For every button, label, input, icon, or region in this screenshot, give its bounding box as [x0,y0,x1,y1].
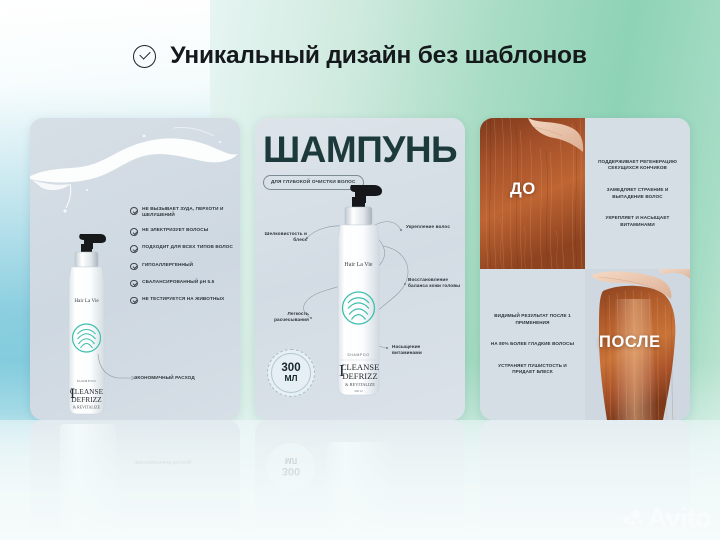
after-photo-cell: ПОСЛЕ [585,269,690,420]
badge-ring [271,353,311,393]
volume-badge: 300 МЛ [267,349,315,397]
svg-text:I: I [339,361,345,380]
feature-label-right-1: Укрепление волос [406,224,460,230]
check-icon [130,228,138,236]
benefit-text: УКРЕПЛЯЕТ И НАСЫЩАЕТ ВИТАМИНАМИ [592,215,683,228]
product-hero-panel[interactable]: ШАМПУНЬ ДЛЯ ГЛУБОКОЙ ОЧИСТКИ ВОЛОС [255,118,465,420]
benefits-list: НЕ ВЫЗЫВАЕТ ЗУДА, ПЕРХОТИ И ШЕЛУШЕНИЙ НЕ… [130,206,236,313]
list-item: НЕ ЭЛЕКТРИЗУЕТ ВОЛОСЫ [130,227,236,236]
water-splash-graphic [30,122,240,214]
list-item-label: ПОДХОДИТ ДЛЯ ВСЕХ ТИПОВ ВОЛОС [142,244,233,250]
feature-label-right-2: Восстановление баланса кожи головы [408,277,462,290]
feature-label-right-3: Насыщение витаминами [392,344,450,357]
svg-text:Hair La Vie: Hair La Vie [74,298,99,304]
list-item: НЕ ВЫЗЫВАЕТ ЗУДА, ПЕРХОТИ И ШЕЛУШЕНИЙ [130,206,236,219]
list-item-label: СБАЛАНСИРОВАННЫЙ pH 5.5 [142,279,214,285]
header: Уникальный дизайн без шаблонов [0,42,720,70]
page-title: Уникальный дизайн без шаблонов [170,42,586,70]
svg-text:Hair La Vie: Hair La Vie [344,262,373,268]
check-icon [130,280,138,288]
svg-text:SHAMPOO: SHAMPOO [347,353,369,357]
list-item: ПОДХОДИТ ДЛЯ ВСЕХ ТИПОВ ВОЛОС [130,244,236,253]
avito-wordmark: Avito [648,505,712,532]
check-icon [130,245,138,253]
check-icon [130,263,138,271]
callout-label: ЭКОНОМИЧНЫЙ РАСХОД [134,375,195,380]
list-item-label: НЕ ВЫЗЫВАЕТ ЗУДА, ПЕРХОТИ И ШЕЛУШЕНИЙ [142,206,236,219]
benefit-text: УСТРАНЯЕТ ПУШИСТОСТЬ И ПРИДАЕТ БЛЕСК [487,363,578,376]
svg-text:SHAMPOO: SHAMPOO [77,379,97,383]
list-item: ГИПОАЛЛЕРГЕННЫЙ [130,262,236,271]
svg-text:DEFRIZZ: DEFRIZZ [71,395,102,404]
list-item: СБАЛАНСИРОВАННЫЙ pH 5.5 [130,279,236,288]
svg-text:DEFRIZZ: DEFRIZZ [342,371,377,381]
benefits-bottom-cell: ВИДИМЫЙ РЕЗУЛЬТАТ ПОСЛЕ 1 ПРИМЕНЕНИЯ НА … [480,269,585,420]
benefits-top-list: ПОДДЕРЖИВАЕТ РЕГЕНЕРАЦИЮ СЕКУЩИХСЯ КОНЧИ… [585,118,690,269]
check-icon [130,297,138,305]
before-photo-cell: ДО [480,118,585,269]
avito-dots-logo [623,508,645,530]
svg-text:& REVITALIZE: & REVITALIZE [73,405,101,410]
avito-watermark: Avito [623,505,712,532]
list-item-label: НЕ ЭЛЕКТРИЗУЕТ ВОЛОСЫ [142,227,208,233]
check-icon [130,207,138,215]
list-item: НЕ ТЕСТИРУЕТСЯ НА ЖИВОТНЫХ [130,296,236,305]
before-after-panel[interactable]: ДО ПОДДЕРЖИВАЕТ РЕГЕНЕРАЦИЮ СЕКУЩИХСЯ КО… [480,118,690,420]
benefits-top-cell: ПОДДЕРЖИВАЕТ РЕГЕНЕРАЦИЮ СЕКУЩИХСЯ КОНЧИ… [585,118,690,269]
shampoo-bottle-image: Hair La Vie SHAMPOO CLEANSE DEFRIZZ & RE… [327,180,393,398]
benefit-text: ВИДИМЫЙ РЕЗУЛЬТАТ ПОСЛЕ 1 ПРИМЕНЕНИЯ [487,313,578,326]
benefits-panel[interactable]: Hair La Vie SHAMPOO CLEANSE DEFRIZZ & RE… [30,118,240,420]
benefit-text: НА 80% БОЛЕЕ ГЛАДКИЕ ВОЛОСЫ [491,341,574,348]
after-label: ПОСЛЕ [599,333,661,352]
benefits-bottom-list: ВИДИМЫЙ РЕЗУЛЬТАТ ПОСЛЕ 1 ПРИМЕНЕНИЯ НА … [480,269,585,420]
list-item-label: ГИПОАЛЛЕРГЕННЫЙ [142,262,193,268]
feature-label-left-2: Легкость расчесывания [261,311,309,324]
feature-label-left-1: Шелковистость и блеск [261,231,307,244]
svg-text:300 ml: 300 ml [354,389,363,393]
before-label: ДО [510,180,536,199]
callout-leader-line [96,354,138,382]
benefit-text: ЗАМЕДЛЯЕТ СТРАЕНИЕ И ВЫПАДЕНИЕ ВОЛОС [592,187,683,200]
benefit-text: ПОДДЕРЖИВАЕТ РЕГЕНЕРАЦИЮ СЕКУЩИХСЯ КОНЧИ… [592,159,683,172]
check-circle-icon [133,45,156,68]
svg-text:& REVITALIZE: & REVITALIZE [345,382,375,387]
list-item-label: НЕ ТЕСТИРУЕТСЯ НА ЖИВОТНЫХ [142,296,224,302]
svg-text:I: I [70,386,75,402]
panels-row: Hair La Vie SHAMPOO CLEANSE DEFRIZZ & RE… [0,118,720,420]
shampoo-bottle-image: Hair La Vie SHAMPOO CLEANSE DEFRIZZ & RE… [60,230,116,416]
